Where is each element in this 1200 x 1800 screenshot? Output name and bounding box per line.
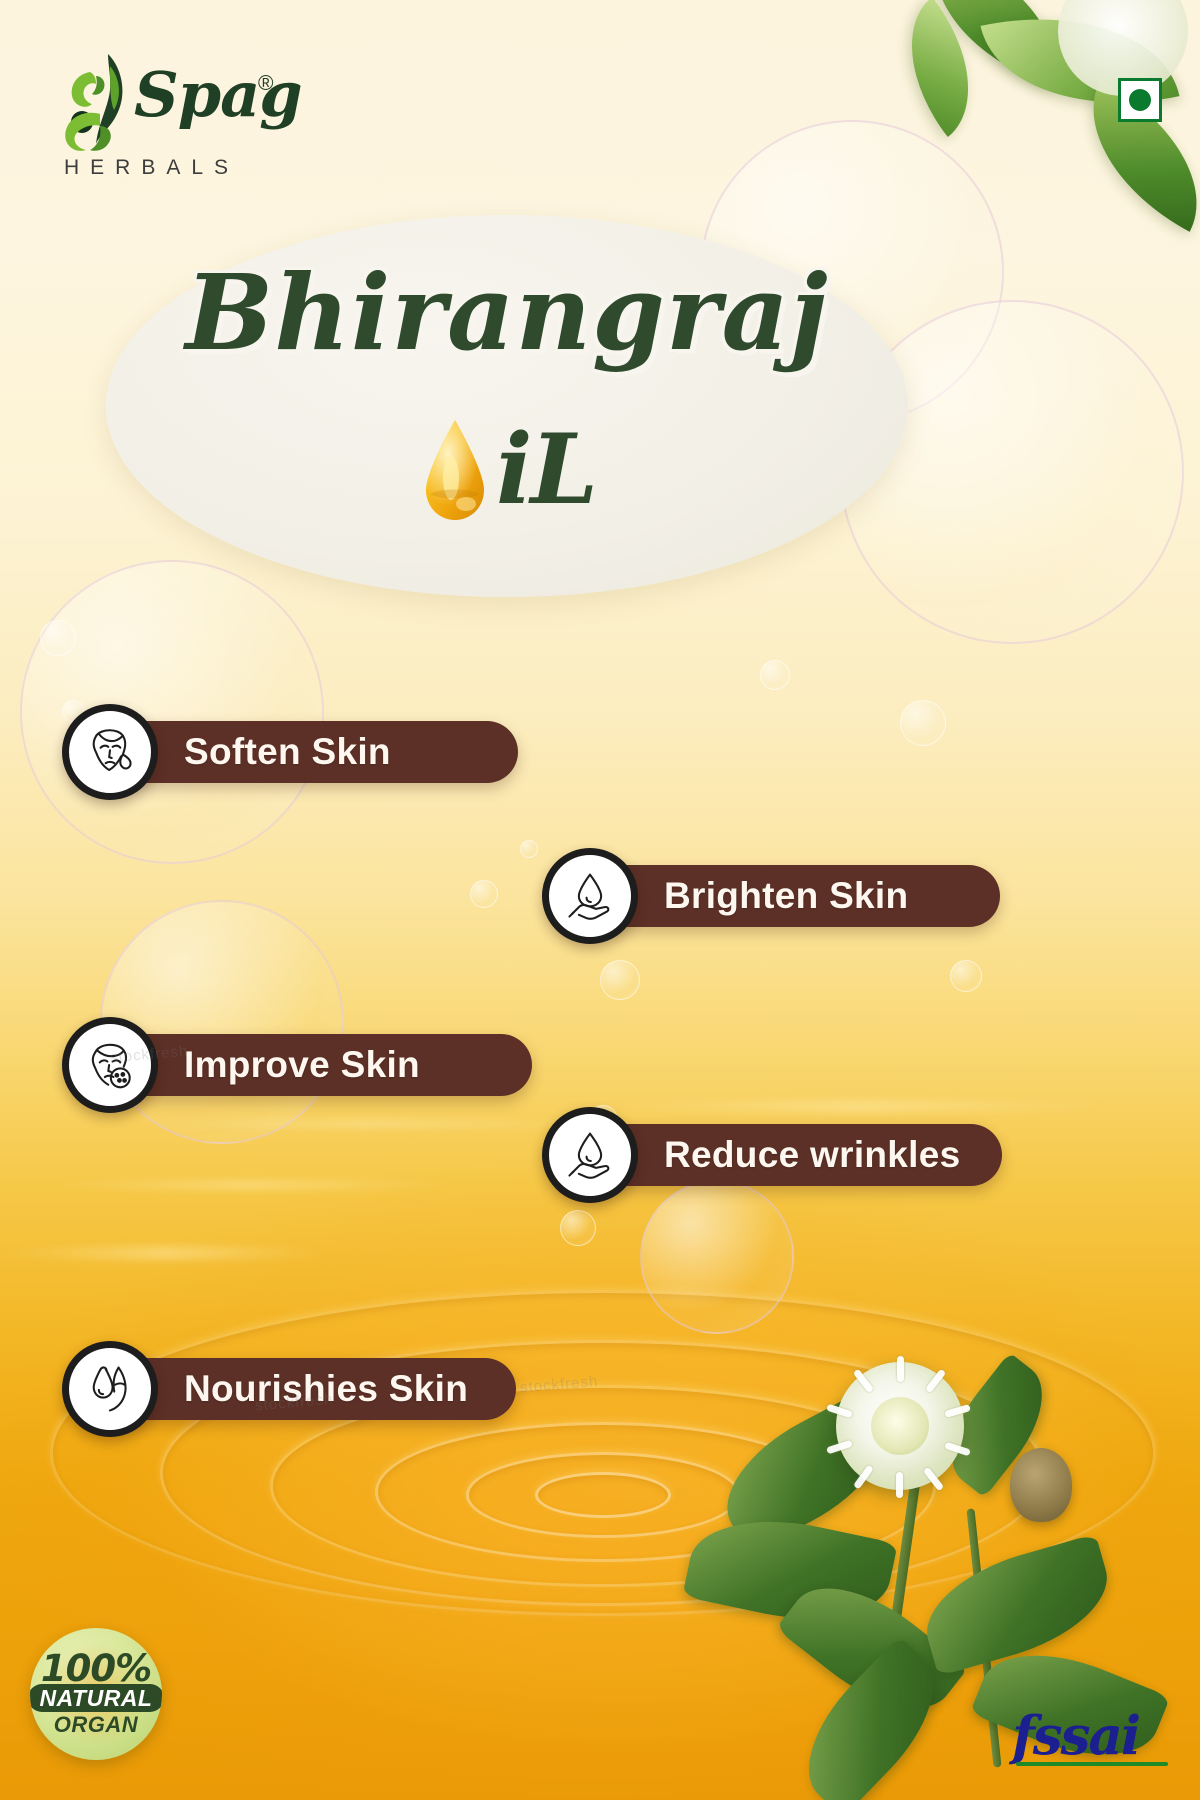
ripple-ring [375,1422,831,1562]
ripple-ring [535,1472,671,1518]
vegetarian-mark-icon [1118,78,1162,122]
ripple-ring [50,1290,1156,1616]
benefit-pill-reduce-wrinkles[interactable]: Reduce wrinkles [556,1124,1002,1186]
ripple-ring [466,1452,740,1538]
fssai-wordmark: fssai [1012,1710,1172,1763]
flower-petal [944,1442,971,1457]
flower-petal [897,1356,904,1382]
plant-stem [869,1477,921,1775]
bubble [470,880,498,908]
plant-leaf [705,1389,907,1555]
bubble [640,1180,794,1334]
flower-petal [944,1404,971,1418]
bubble [520,840,538,858]
plant-leaf [776,1559,969,1737]
bubble [950,960,982,992]
flower-petal [826,1440,853,1455]
badge-organic-label: ORGAN [54,1713,138,1737]
plant-leaf [682,1502,898,1637]
page-title: Bhirangraj [106,261,908,365]
registered-trademark-icon: ® [258,72,273,96]
veg-dot [1129,89,1151,111]
fssai-underline [1016,1762,1168,1766]
light-streak [0,1246,330,1260]
bubble [40,620,76,656]
plant-bud [1010,1448,1072,1522]
title-block: Bhirangraj [106,215,908,597]
badge-natural-label: NATURAL [30,1684,162,1712]
flower-petal [925,1369,947,1394]
badge-percent: 100% [41,1651,151,1686]
brand-name: Spag [134,58,302,131]
plant-stem [966,1508,1001,1767]
flower-petal [923,1467,945,1492]
fssai-logo-icon: fssai [1012,1708,1172,1780]
bhringraj-flower [836,1362,964,1490]
product-type-label: iL [496,422,596,518]
bubble [100,900,344,1144]
light-streak [40,1180,460,1190]
hand-droplet-icon [542,848,638,944]
benefit-pill-brighten-skin[interactable]: Brighten Skin [556,865,1000,927]
oil-drop-icon [418,418,492,522]
benefit-pill-improve-skin[interactable]: Improve Skin [76,1034,532,1096]
light-streak [600,1100,1120,1112]
plant-leaf [913,1534,1122,1677]
flower-petal [853,1369,875,1394]
product-poster: Spag ® HERBALS Bhirangraj [0,0,1200,1800]
plant-leaf [781,1636,961,1800]
bubble [900,700,946,746]
brand-tagline: HERBALS [64,156,239,180]
flower-core [871,1397,929,1455]
natural-organic-badge: 100% NATURAL ORGAN [30,1628,162,1760]
benefit-pill-soften-skin[interactable]: Soften Skin [76,721,518,783]
flower-petal [853,1464,874,1489]
droplet-leaf-icon [62,1341,158,1437]
bubble [600,960,640,1000]
bubble [760,660,790,690]
plant-leaf [929,1352,1064,1498]
woman-face-droplet-icon [62,704,158,800]
brand-logo[interactable]: Spag ® HERBALS [56,48,306,188]
bubble [560,1210,596,1246]
flower-petal [896,1472,903,1498]
watermark: stockfresh [519,1373,599,1397]
hand-droplet-icon [542,1107,638,1203]
flower-petal [826,1404,853,1419]
product-type-row: iL [106,405,908,535]
